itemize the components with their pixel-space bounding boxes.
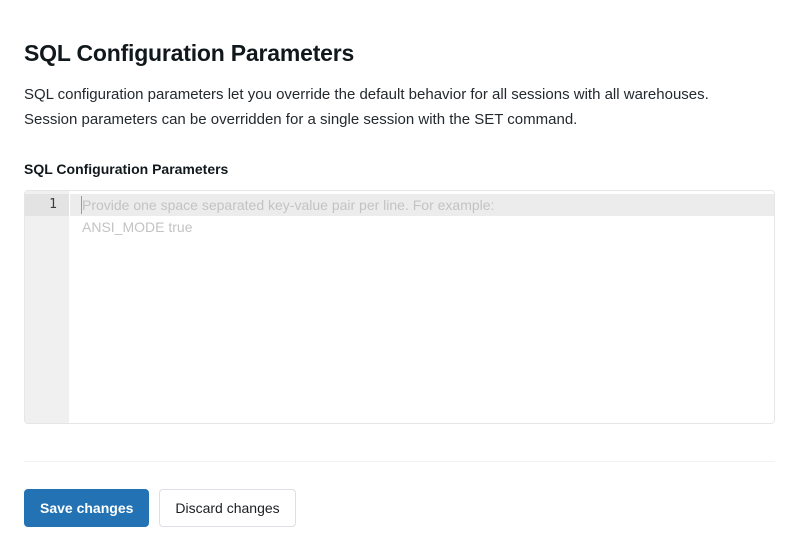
discard-changes-button[interactable]: Discard changes	[159, 489, 295, 527]
page-description-line-1: SQL configuration parameters let you ove…	[24, 82, 764, 107]
editor-placeholder-line-2: ANSI_MODE true	[70, 216, 774, 238]
page-description: SQL configuration parameters let you ove…	[24, 68, 764, 132]
editor-text-cursor	[81, 196, 82, 214]
sql-config-code-editor[interactable]: 1 Provide one space separated key-value …	[24, 190, 775, 424]
editor-line-number-gutter: 1	[25, 191, 70, 423]
editor-text-area[interactable]: Provide one space separated key-value pa…	[70, 191, 774, 423]
save-changes-button[interactable]: Save changes	[24, 489, 149, 527]
editor-placeholder: Provide one space separated key-value pa…	[70, 194, 774, 238]
page-title: SQL Configuration Parameters	[24, 0, 776, 68]
editor-placeholder-line-1: Provide one space separated key-value pa…	[70, 194, 774, 216]
sql-configuration-parameters-page: SQL Configuration Parameters SQL configu…	[0, 0, 800, 534]
form-actions: Save changes Discard changes	[24, 462, 776, 527]
page-description-line-2: Session parameters can be overridden for…	[24, 107, 764, 132]
sql-config-field-label: SQL Configuration Parameters	[24, 132, 776, 190]
editor-line-number: 1	[25, 194, 69, 216]
